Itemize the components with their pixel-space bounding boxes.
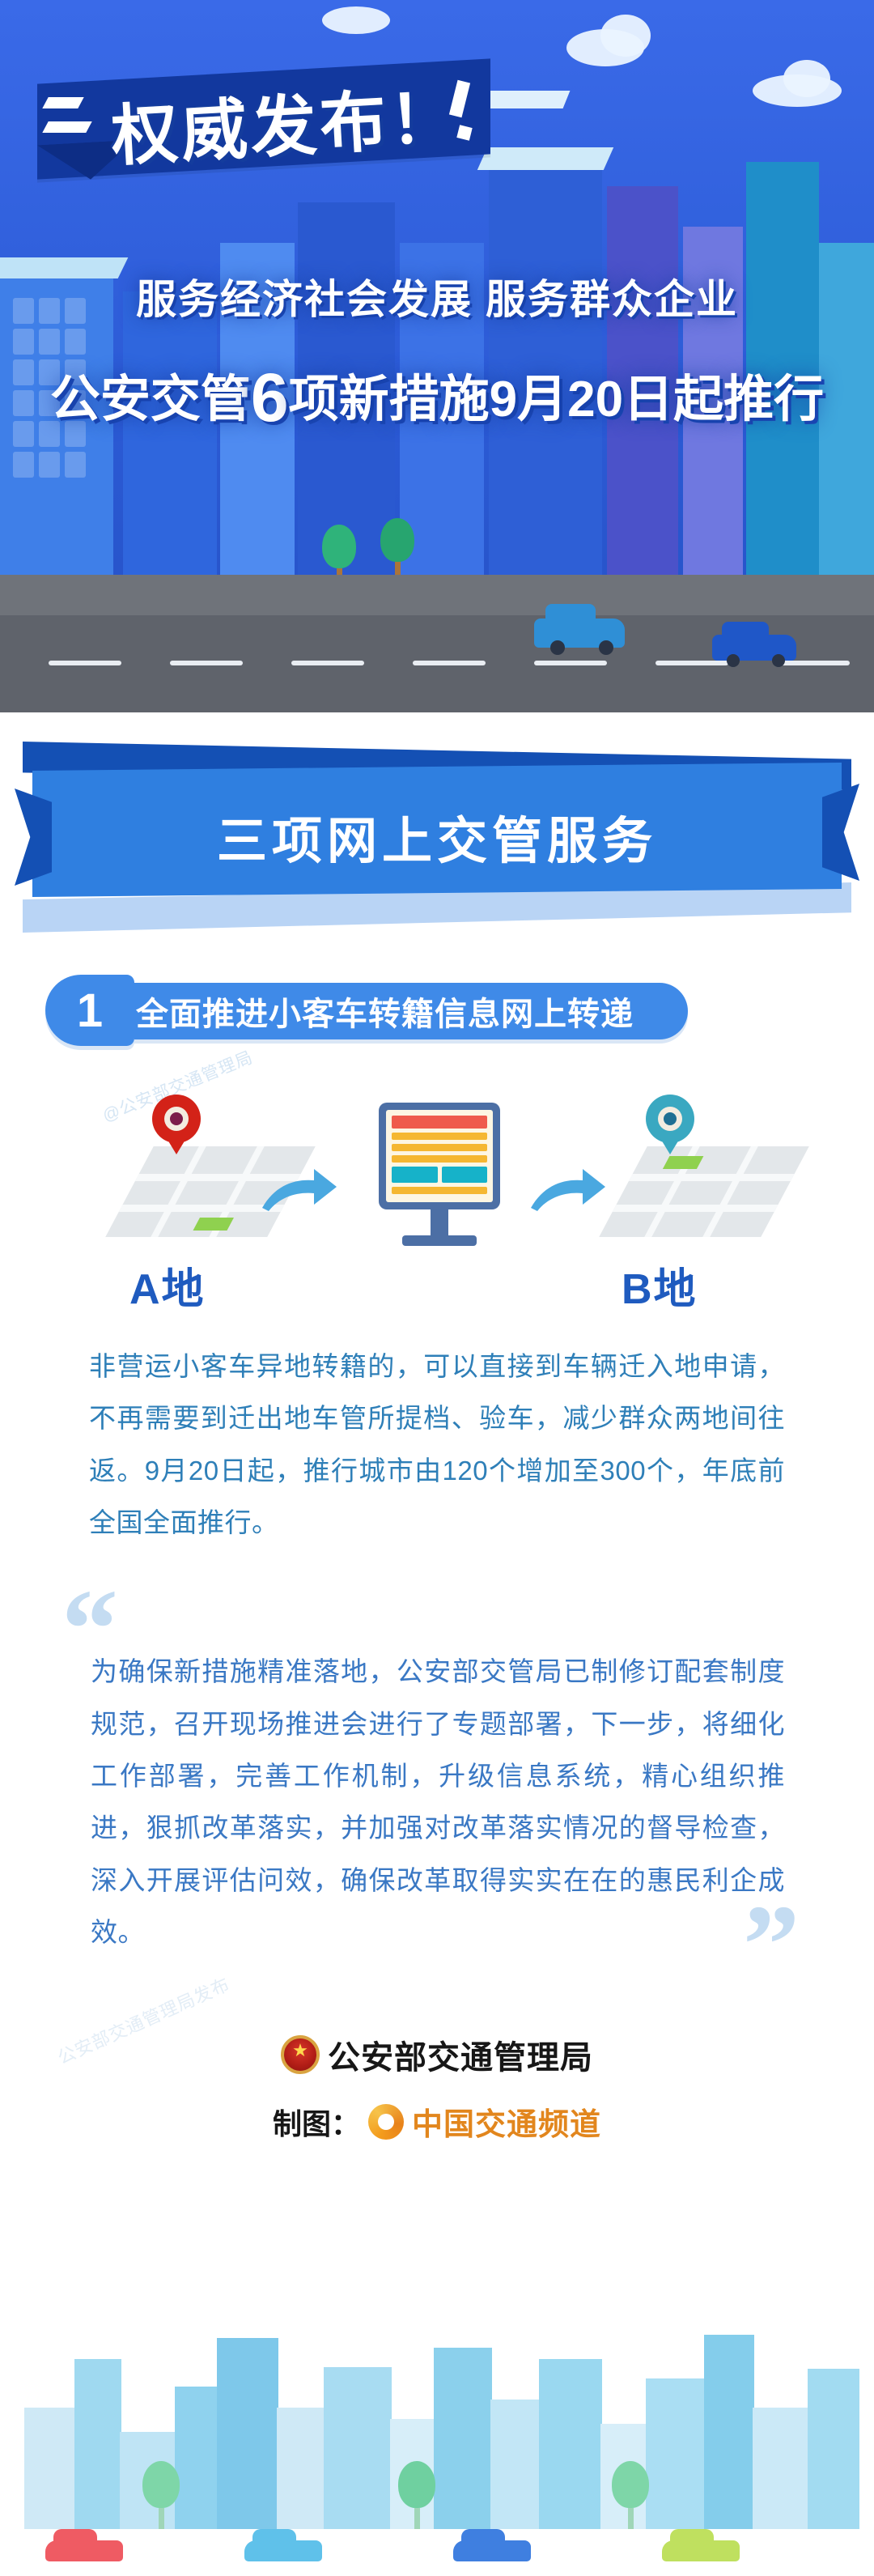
building-roof (477, 147, 613, 170)
illustration-transfer-flow: @公安部交通管理局 A地 (0, 1057, 874, 1333)
hero-title: 公安交管6项新措施9月20日起推行 (0, 358, 874, 431)
road-dash (49, 661, 121, 665)
car-icon (712, 635, 796, 661)
tree-icon (398, 2461, 435, 2529)
origin-label: A地 (129, 1255, 206, 1316)
destination-label: B地 (622, 1255, 698, 1316)
item-label: 全面推进小客车转籍信息网上转递 (136, 983, 634, 1039)
arrow-right-icon (529, 1164, 607, 1213)
signature-block: 公安部交通管理局发布 公安部交通管理局 制图： 中国交通频道 (0, 2031, 874, 2144)
hero-title-number: 6 (251, 359, 289, 436)
hero-badge-text: 权威发布！ (108, 63, 461, 179)
building-shape (217, 2338, 278, 2529)
section-banner: 三项网上交管服务 (0, 712, 874, 955)
building-shape (277, 2408, 325, 2529)
item-heading: 1 全面推进小客车转籍信息网上转递 (0, 960, 874, 1057)
tree-icon (380, 518, 414, 583)
arrow-right-icon (261, 1164, 338, 1213)
road-dash (777, 661, 850, 665)
signature-credit-row: 制图： 中国交通频道 (0, 2099, 874, 2144)
road-dash (413, 661, 486, 665)
item-number: 1 (45, 975, 134, 1046)
section-banner-title: 三项网上交管服务 (0, 800, 874, 873)
computer-monitor-icon (379, 1103, 500, 1209)
car-icon (534, 618, 625, 648)
hero-banner: 权威发布！ 服务经济社会发展 服务群众企业 公安交管6项新措施9月20日起推行 (0, 0, 874, 712)
map-pin-destination (646, 1095, 694, 1163)
car-icon (244, 2540, 322, 2561)
building-shape (175, 2387, 218, 2529)
building-shape (434, 2348, 492, 2529)
car-icon (453, 2540, 531, 2561)
quote-text: 为确保新措施精准落地，公安部交管局已制修订配套制度规范，召开现场推进会进行了专题… (91, 1588, 785, 1958)
quote-close-mark: ” (743, 1889, 800, 2002)
map-pin-origin (152, 1095, 201, 1163)
building-shape (74, 2359, 121, 2529)
cloud-icon (322, 6, 390, 34)
china-traffic-channel-logo-icon (368, 2104, 404, 2140)
quote-block: “ 为确保新措施精准落地，公安部交管局已制修订配套制度规范，召开现场推进会进行了… (0, 1588, 874, 1958)
building-shape (24, 2408, 76, 2529)
hero-badge: 权威发布！ (72, 66, 497, 176)
tree-icon (142, 2461, 180, 2529)
road-dash (291, 661, 364, 665)
building-shape (646, 2378, 706, 2529)
building-shape (808, 2369, 859, 2529)
building-shape (753, 2408, 809, 2529)
credit-name: 中国交通频道 (412, 2099, 601, 2144)
building-shape (490, 2400, 541, 2529)
footer-cityscape (0, 2268, 874, 2576)
building-shape (123, 291, 217, 615)
building-shape (324, 2367, 392, 2529)
hero-title-prefix: 公安交管 (50, 372, 251, 427)
car-icon (45, 2540, 123, 2561)
hero-title-suffix: 项新措施9月20日起推行 (289, 372, 824, 427)
police-emblem-icon (281, 2035, 320, 2074)
building-shape (704, 2335, 754, 2529)
body-paragraph: 非营运小客车异地转籍的，可以直接到车辆迁入地申请，不再需要到迁出地车管所提档、验… (0, 1341, 874, 1549)
footer-ground (0, 2529, 874, 2576)
car-icon (662, 2540, 740, 2561)
credit-prefix: 制图： (273, 2101, 360, 2143)
hero-subtitle: 服务经济社会发展 服务群众企业 (0, 267, 874, 325)
road-dash (534, 661, 607, 665)
signature-org-name: 公安部交通管理局 (328, 2031, 593, 2078)
tree-icon (612, 2461, 649, 2529)
building-shape (539, 2359, 602, 2529)
road-dash (170, 661, 243, 665)
cloud-icon (783, 60, 830, 97)
map-tile-destination (599, 1146, 809, 1237)
cloud-icon (600, 15, 651, 57)
road-dash (655, 661, 728, 665)
